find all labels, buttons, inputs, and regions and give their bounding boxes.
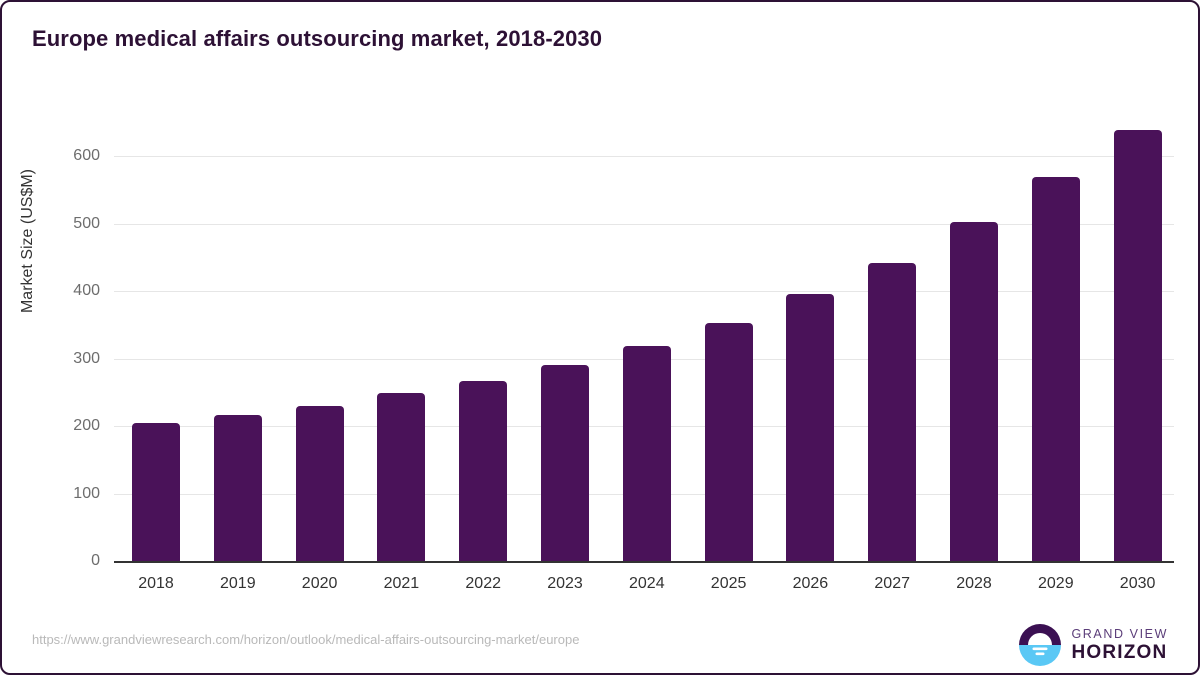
x-tick-label: 2028: [929, 575, 1019, 593]
x-tick-label: 2021: [356, 575, 446, 593]
x-tick-label: 2023: [520, 575, 610, 593]
x-tick-label: 2022: [438, 575, 528, 593]
y-tick-label: 200: [40, 417, 100, 435]
x-tick-label: 2030: [1093, 575, 1183, 593]
gridline: [114, 291, 1174, 292]
grand-view-horizon-logo[interactable]: GRAND VIEW HORIZON: [1018, 622, 1168, 668]
y-tick-label: 600: [40, 147, 100, 165]
bar[interactable]: [296, 406, 344, 561]
x-tick-label: 2027: [847, 575, 937, 593]
y-tick-label: 300: [40, 350, 100, 368]
bar[interactable]: [377, 393, 425, 561]
bar[interactable]: [786, 294, 834, 561]
bar[interactable]: [541, 365, 589, 561]
page-title: Europe medical affairs outsourcing marke…: [32, 26, 602, 52]
bar[interactable]: [459, 381, 507, 561]
bar[interactable]: [1114, 130, 1162, 561]
y-tick-label: 400: [40, 282, 100, 300]
chart-page: Europe medical affairs outsourcing marke…: [0, 0, 1200, 675]
plot-area: [114, 102, 1174, 561]
y-tick-label: 0: [40, 552, 100, 570]
bar[interactable]: [950, 222, 998, 561]
gridline: [114, 156, 1174, 157]
source-url[interactable]: https://www.grandviewresearch.com/horizo…: [32, 632, 579, 647]
x-tick-label: 2024: [602, 575, 692, 593]
horizon-sunrise-icon: [1018, 623, 1062, 667]
bar[interactable]: [705, 323, 753, 561]
x-tick-label: 2029: [1011, 575, 1101, 593]
bar[interactable]: [1032, 177, 1080, 561]
logo-line-grand-view: GRAND VIEW: [1071, 628, 1168, 641]
bar[interactable]: [214, 415, 262, 561]
x-tick-label: 2026: [765, 575, 855, 593]
bar[interactable]: [132, 423, 180, 561]
y-tick-label: 500: [40, 215, 100, 233]
x-tick-label: 2018: [111, 575, 201, 593]
x-axis-line: [114, 561, 1174, 563]
logo-line-horizon: HORIZON: [1071, 643, 1168, 662]
x-tick-label: 2020: [275, 575, 365, 593]
bar[interactable]: [623, 346, 671, 561]
logo-text: GRAND VIEW HORIZON: [1071, 628, 1168, 663]
bar[interactable]: [868, 263, 916, 561]
x-tick-label: 2025: [684, 575, 774, 593]
y-axis-title: Market Size (US$M): [19, 91, 37, 391]
x-tick-label: 2019: [193, 575, 283, 593]
y-tick-label: 100: [40, 485, 100, 503]
gridline: [114, 224, 1174, 225]
